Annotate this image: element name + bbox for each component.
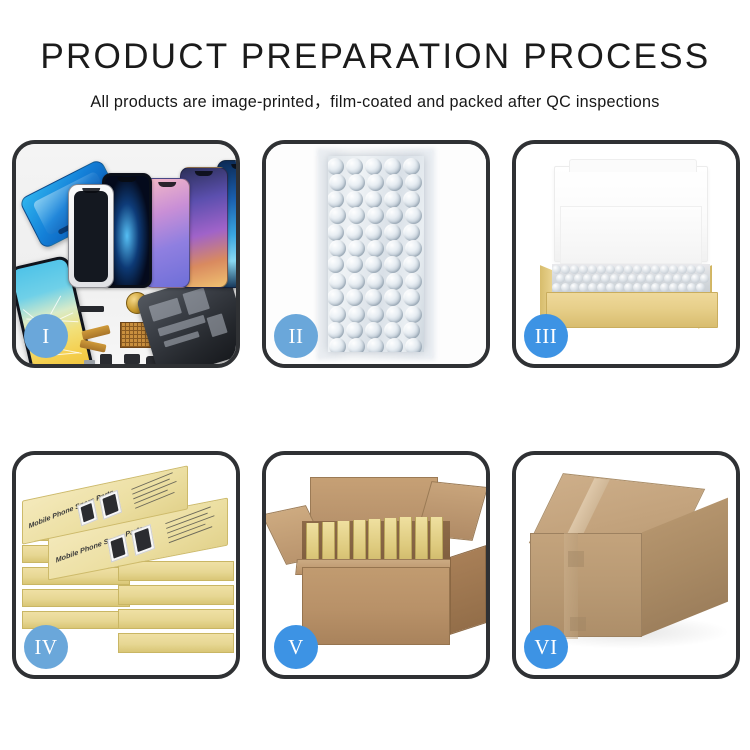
bubble	[403, 224, 420, 241]
step-panel-4: Mobile Phone Spare Parts Mo	[12, 451, 240, 679]
step-badge-1: I	[24, 314, 68, 358]
bubble	[628, 274, 637, 283]
bubble	[328, 289, 344, 306]
bubble-wrap-sheet	[328, 156, 424, 352]
bubble	[660, 283, 669, 292]
bubble	[367, 338, 384, 352]
bubble	[651, 265, 660, 274]
process-grid: I II III	[12, 140, 740, 680]
bubble	[637, 274, 646, 283]
bubble	[615, 265, 624, 274]
bubble	[329, 338, 346, 352]
inner-box-foam	[560, 206, 702, 264]
bubble	[700, 274, 709, 283]
carton-tab-upper	[568, 551, 584, 567]
bubble	[682, 274, 691, 283]
bubble	[556, 274, 565, 283]
bubble	[606, 283, 615, 292]
bubble	[624, 283, 633, 292]
bubble	[403, 191, 420, 208]
bubble	[642, 283, 651, 292]
bubble	[565, 274, 574, 283]
header: PRODUCT PREPARATION PROCESS All products…	[0, 0, 750, 128]
bubble	[346, 256, 363, 273]
carton-tab-lower	[570, 617, 586, 631]
bubble	[687, 283, 696, 292]
step-panel-5: V	[262, 451, 490, 679]
step-badge-6: VI	[524, 625, 568, 669]
bubble	[669, 265, 678, 274]
bubble	[384, 224, 401, 241]
bubble	[660, 265, 669, 274]
bubble	[579, 265, 588, 274]
bubble	[365, 191, 382, 208]
bubble	[642, 265, 651, 274]
step-badge-3: III	[524, 314, 568, 358]
phone-screen-white	[68, 184, 114, 288]
bubble	[367, 273, 384, 290]
bubble	[592, 274, 601, 283]
bubble	[646, 274, 655, 283]
bubble	[588, 283, 597, 292]
bubble	[367, 207, 384, 224]
bubble	[328, 322, 344, 339]
bubble	[403, 289, 420, 306]
bubble	[365, 256, 382, 273]
bubble	[328, 256, 344, 273]
carton-side-panel	[450, 545, 486, 635]
bubble	[561, 283, 570, 292]
bubble	[570, 265, 579, 274]
bubble	[687, 265, 696, 274]
step-badge-4: IV	[24, 625, 68, 669]
bubble	[696, 283, 705, 292]
bubble	[346, 322, 363, 339]
bubble	[348, 273, 365, 290]
bubble-grid	[328, 156, 424, 352]
step-panel-6: VI	[512, 451, 740, 679]
bubble	[651, 283, 660, 292]
sealed-carton-front	[530, 533, 642, 637]
bubble	[348, 207, 365, 224]
bubble	[615, 283, 624, 292]
bubble	[346, 191, 363, 208]
step-badge-2: II	[274, 314, 318, 358]
bubble	[403, 158, 420, 175]
bubble	[403, 256, 420, 273]
bubble	[367, 240, 384, 257]
bubble	[365, 289, 382, 306]
bubble	[405, 207, 422, 224]
bubble	[655, 274, 664, 283]
bubble	[561, 265, 570, 274]
bubble	[386, 338, 403, 352]
bubble	[384, 191, 401, 208]
bubble	[328, 224, 344, 241]
bubble	[365, 322, 382, 339]
page-title: PRODUCT PREPARATION PROCESS	[40, 36, 710, 77]
bubble	[386, 174, 403, 191]
bubble	[588, 265, 597, 274]
bubble	[696, 265, 705, 274]
bubble	[597, 265, 606, 274]
bubble	[329, 273, 346, 290]
bubble	[386, 306, 403, 323]
bubble	[365, 158, 382, 175]
bubble	[329, 174, 346, 191]
bubble	[328, 191, 344, 208]
step-panel-1: I	[12, 140, 240, 368]
bubble	[384, 256, 401, 273]
bubble	[384, 158, 401, 175]
step-badge-5: V	[274, 625, 318, 669]
bubble	[346, 289, 363, 306]
bubble	[348, 240, 365, 257]
bubble	[619, 274, 628, 283]
bubble	[606, 265, 615, 274]
bubble	[669, 283, 678, 292]
bubble	[601, 274, 610, 283]
bubble	[597, 283, 606, 292]
bubble	[405, 240, 422, 257]
phone-screen-fan	[68, 158, 236, 288]
bubble	[673, 274, 682, 283]
bubble	[386, 240, 403, 257]
bubble	[574, 274, 583, 283]
bubble	[386, 273, 403, 290]
step-panel-2: II	[262, 140, 490, 368]
bubble	[348, 174, 365, 191]
bubble	[405, 306, 422, 323]
bubble	[405, 273, 422, 290]
bubble	[691, 274, 700, 283]
bubble	[624, 265, 633, 274]
carton-front-panel	[302, 567, 450, 645]
bubble	[384, 289, 401, 306]
bubble	[365, 224, 382, 241]
bubble	[346, 224, 363, 241]
bubble	[610, 274, 619, 283]
bubble	[403, 322, 420, 339]
bubble	[405, 338, 422, 352]
bubble	[367, 306, 384, 323]
page-subtitle: All products are image-printed，film-coat…	[90, 88, 659, 112]
bubble	[583, 274, 592, 283]
bubble	[579, 283, 588, 292]
step-panel-3: III	[512, 140, 740, 368]
bubble	[386, 207, 403, 224]
bubble	[348, 338, 365, 352]
bubble	[348, 306, 365, 323]
bubble	[664, 274, 673, 283]
bubble	[552, 283, 561, 292]
bubble	[329, 240, 346, 257]
inner-box-contents-bubblewrap	[552, 264, 710, 294]
bubble	[552, 265, 561, 274]
bubble	[678, 265, 687, 274]
bubble	[346, 158, 363, 175]
bubble	[633, 265, 642, 274]
bubble	[384, 322, 401, 339]
bubble	[329, 207, 346, 224]
bubble	[570, 283, 579, 292]
product-preparation-infographic: PRODUCT PREPARATION PROCESS All products…	[0, 0, 750, 750]
bubble	[329, 306, 346, 323]
bubble	[678, 283, 687, 292]
bubble	[405, 174, 422, 191]
bubble	[328, 158, 344, 175]
bubble	[367, 174, 384, 191]
bubble	[633, 283, 642, 292]
inner-box-front-panel	[546, 292, 718, 328]
